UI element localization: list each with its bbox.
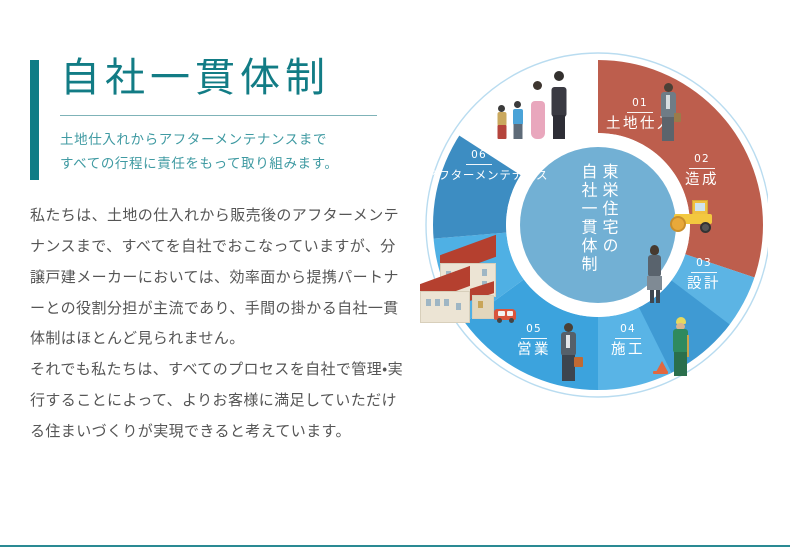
center-line-1: 東栄住宅の	[601, 163, 617, 283]
subtitle-line-2: すべての行程に責任をもって取り組みます。	[60, 153, 415, 177]
body-copy: 私たちは、土地の仕入れから販売後のアフターメンテナンスまで、すべてを自社でおこな…	[30, 200, 410, 446]
title-block: 自社一貫体制 土地仕入れからアフターメンテナンスまで すべての行程に責任をもって…	[30, 55, 415, 176]
process-cycle-diagram: 東栄住宅の 自社一貫体制 01 土地仕入 02 造成 03 設計 04 施工 0…	[408, 45, 768, 425]
traffic-cone-base	[653, 371, 668, 374]
left-content-column: 自社一貫体制 土地仕入れからアフターメンテナンスまで すべての行程に責任をもって…	[30, 55, 415, 446]
center-label: 東栄住宅の 自社一貫体制	[550, 163, 646, 283]
body-paragraph-1: 私たちは、土地の仕入れから販売後のアフターメンテナンスまで、すべてを自社でおこな…	[30, 200, 410, 354]
subtitle-line-1: 土地仕入れからアフターメンテナンスまで	[60, 129, 415, 153]
title-divider	[60, 115, 377, 116]
body-paragraph-2: それでも私たちは、すべてのプロセスを自社で管理・実行することによって、よりお客様…	[30, 354, 410, 446]
subtitle: 土地仕入れからアフターメンテナンスまで すべての行程に責任をもって取り組みます。	[60, 129, 415, 176]
title-accent-bar	[30, 60, 39, 180]
center-line-2: 自社一貫体制	[580, 163, 596, 283]
page-root: 自社一貫体制 土地仕入れからアフターメンテナンスまで すべての行程に責任をもって…	[0, 0, 790, 547]
page-title: 自社一貫体制	[60, 55, 415, 101]
